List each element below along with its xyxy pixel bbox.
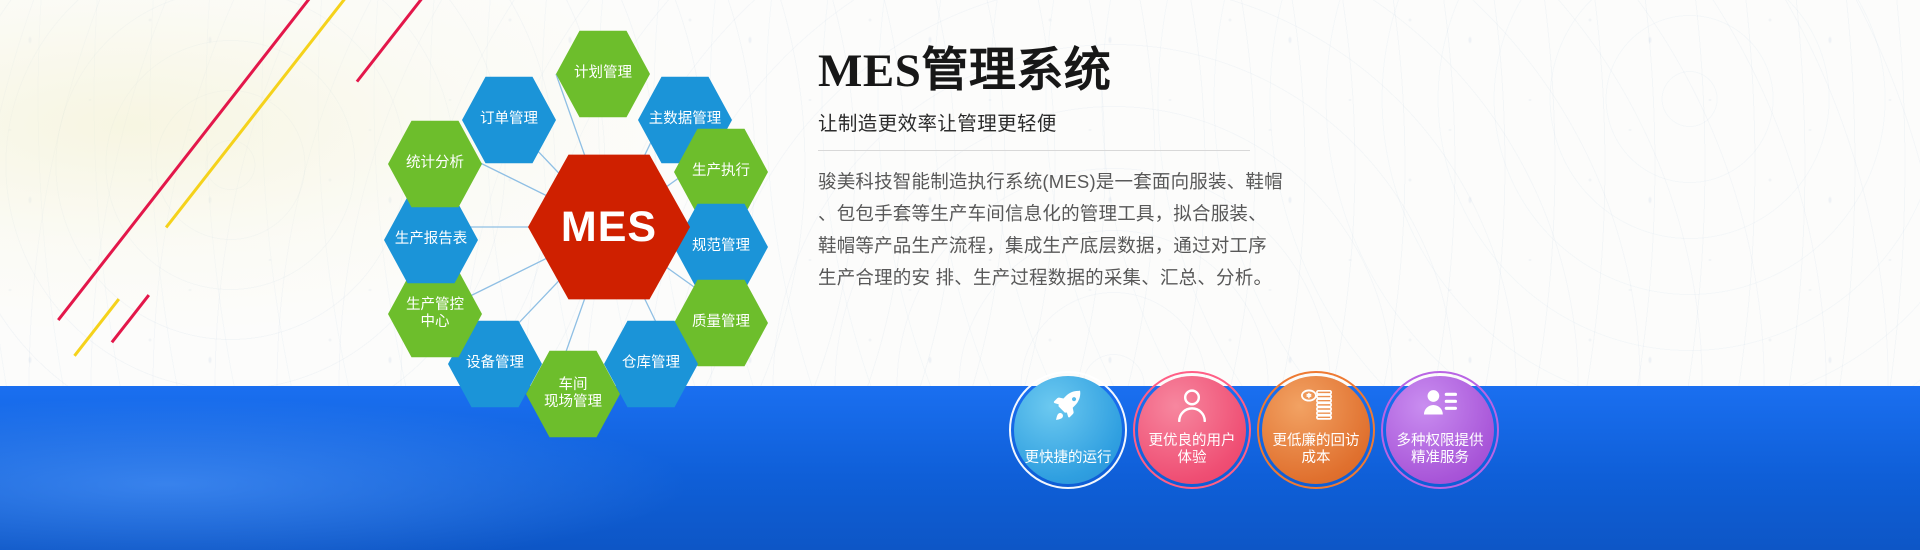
feature-label: 更优良的用户体验	[1142, 433, 1242, 468]
description-line: 生产合理的安 排、生产过程数据的采集、汇总、分析。	[818, 262, 1288, 294]
title-divider	[818, 150, 1250, 151]
hex-node-label: 生产报告表	[389, 231, 474, 248]
hex-node-label: 订单管理	[474, 111, 544, 128]
hero-banner: 计划管理 主数据管理 生产执行 规范管理 质量管理 仓库管理 车间现场管理 设备…	[0, 0, 1920, 550]
page-subtitle: 让制造更效率让管理更轻便	[818, 107, 1858, 136]
feature-label: 多种权限提供精准服务	[1390, 433, 1490, 468]
bottom-blue-band	[0, 386, 1920, 550]
hero-text-column: MES管理系统 让制造更效率让管理更轻便 骏美科技智能制造执行系统(MES)是一…	[818, 48, 1858, 294]
hex-node-label: 规范管理	[686, 238, 756, 255]
hex-node-label: 主数据管理	[643, 111, 728, 128]
hex-node-label: 车间现场管理	[538, 377, 608, 411]
hex-node-label: 计划管理	[568, 65, 638, 82]
circle-ring	[1257, 371, 1375, 489]
feature-circle-better-ux[interactable]: 更优良的用户体验	[1138, 376, 1246, 484]
user-icon	[1173, 388, 1211, 422]
hex-node-label: 质量管理	[686, 314, 756, 331]
page-title: MES管理系统	[818, 48, 1858, 95]
feature-circle-list: 更快捷的运行 更优良的用户体验	[1014, 376, 1494, 484]
feature-circle-faster-operation[interactable]: 更快捷的运行	[1014, 376, 1122, 484]
hex-center-label: MES	[555, 202, 663, 253]
feature-label: 更低廉的回访成本	[1266, 433, 1366, 468]
hero-description: 骏美科技智能制造执行系统(MES)是一套面向服装、鞋帽 、包包手套等生产车间信息…	[818, 166, 1288, 294]
description-line: 、包包手套等生产车间信息化的管理工具，拟合服装、	[818, 198, 1288, 230]
feature-circle-lower-cost[interactable]: 更低廉的回访成本	[1262, 376, 1370, 484]
hex-node-label: 仓库管理	[616, 355, 686, 372]
hex-node-label: 生产执行	[686, 163, 756, 180]
hex-node-label: 设备管理	[460, 355, 530, 372]
description-line: 鞋帽等产品生产流程，集成生产底层数据，通过对工序	[818, 230, 1288, 262]
mes-hex-diagram: 计划管理 主数据管理 生产执行 规范管理 质量管理 仓库管理 车间现场管理 设备…	[400, 22, 820, 442]
hex-node-label: 生产管控中心	[400, 297, 470, 331]
rocket-icon	[1049, 388, 1087, 422]
feature-label: 更快捷的运行	[1018, 450, 1118, 468]
feature-circle-permissions[interactable]: 多种权限提供精准服务	[1386, 376, 1494, 484]
description-line: 骏美科技智能制造执行系统(MES)是一套面向服装、鞋帽	[818, 166, 1288, 198]
user-list-icon	[1421, 388, 1459, 422]
hex-node-label: 统计分析	[400, 155, 470, 172]
